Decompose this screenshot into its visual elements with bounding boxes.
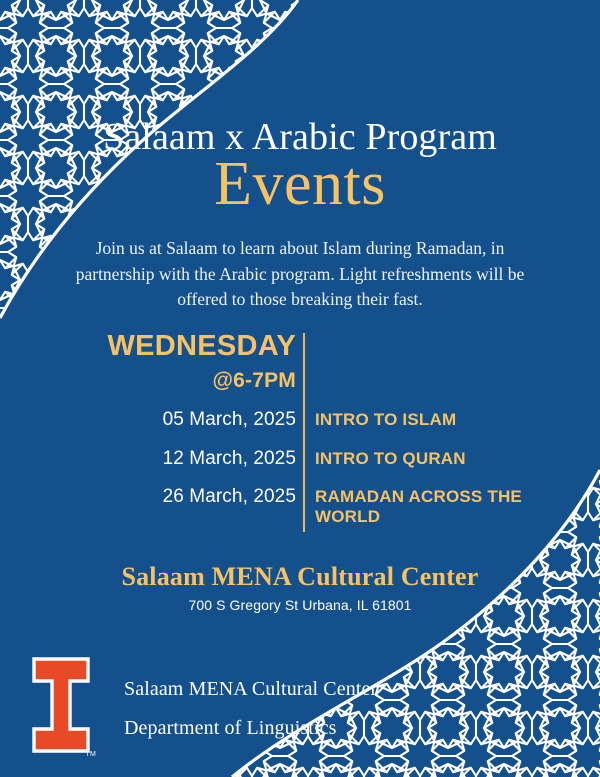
block-i-icon — [30, 655, 92, 755]
schedule-row: 26 March, 2025 RAMADAN ACROSS THE WORLD — [60, 486, 560, 527]
schedule-divider — [303, 333, 305, 532]
schedule-row: 12 March, 2025 INTRO TO QURAN — [60, 448, 560, 470]
poster-title: Salaam x Arabic Program Events — [0, 118, 600, 215]
footer-block: TM Salaam MENA Cultural Center Departmen… — [30, 655, 377, 755]
schedule-header: WEDNESDAY @6-7PM — [60, 331, 296, 392]
footer-org-name: Salaam MENA Cultural Center — [124, 679, 377, 699]
schedule-event: INTRO TO QURAN — [315, 448, 551, 469]
title-line-events: Events — [0, 153, 600, 215]
schedule-time: @6-7PM — [60, 369, 296, 392]
schedule-day: WEDNESDAY — [60, 331, 296, 362]
poster-canvas: Salaam x Arabic Program Events Join us a… — [0, 0, 600, 777]
schedule-date: 05 March, 2025 — [60, 409, 296, 431]
trademark-symbol: TM — [85, 751, 96, 758]
schedule-event: RAMADAN ACROSS THE WORLD — [315, 486, 551, 527]
schedule-row: 05 March, 2025 INTRO TO ISLAM — [60, 409, 560, 431]
schedule-date: 26 March, 2025 — [60, 486, 296, 508]
schedule-event: INTRO TO ISLAM — [315, 409, 551, 430]
illinois-block-i-logo: TM — [30, 655, 92, 755]
intro-paragraph: Join us at Salaam to learn about Islam d… — [72, 236, 528, 313]
footer-text: Salaam MENA Cultural Center Department o… — [124, 655, 377, 738]
venue-name: Salaam MENA Cultural Center — [0, 563, 600, 592]
venue-address: 700 S Gregory St Urbana, IL 61801 — [0, 597, 600, 613]
schedule-rows: 05 March, 2025 INTRO TO ISLAM 12 March, … — [60, 409, 560, 527]
footer-department: Department of Linguistics — [124, 718, 377, 738]
schedule-block: WEDNESDAY @6-7PM 05 March, 2025 INTRO TO… — [60, 331, 560, 543]
venue-block: Salaam MENA Cultural Center 700 S Gregor… — [0, 563, 600, 613]
schedule-date: 12 March, 2025 — [60, 448, 296, 470]
